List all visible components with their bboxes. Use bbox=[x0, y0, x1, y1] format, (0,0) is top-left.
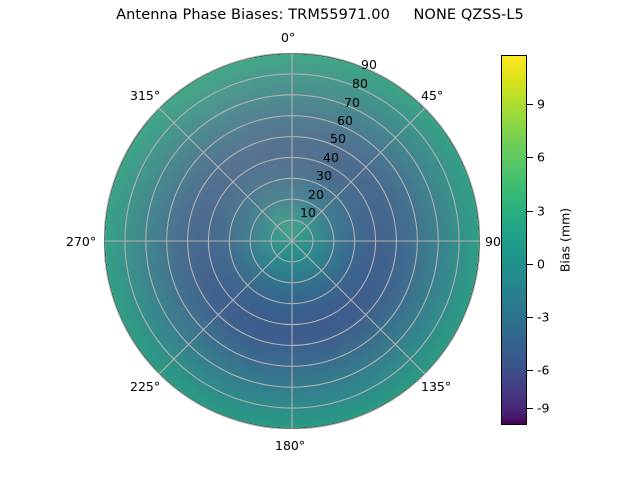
colorbar bbox=[501, 55, 527, 425]
page-title: Antenna Phase Biases: TRM55971.00 NONE Q… bbox=[0, 7, 640, 23]
colorbar-tick-0 bbox=[527, 264, 533, 265]
polar-radial-label-40: 40 bbox=[323, 150, 339, 165]
polar-angular-label-225: 225° bbox=[130, 379, 160, 394]
colorbar-label-m3: -3 bbox=[537, 310, 549, 325]
colorbar-tick-m9 bbox=[527, 408, 533, 409]
colorbar-title: Bias (mm) bbox=[558, 208, 573, 272]
colorbar-label-0: 0 bbox=[537, 257, 545, 272]
colorbar-tick-3 bbox=[527, 211, 533, 212]
bias-azimuthal-modulation bbox=[104, 53, 480, 429]
polar-radial-label-10: 10 bbox=[300, 205, 316, 220]
figure-canvas: Antenna Phase Biases: TRM55971.00 NONE Q… bbox=[0, 0, 640, 480]
colorbar-label-3: 3 bbox=[537, 204, 545, 219]
polar-angular-label-0: 0° bbox=[281, 30, 295, 45]
polar-angular-label-315: 315° bbox=[130, 88, 160, 103]
polar-data-disc bbox=[104, 53, 480, 429]
polar-radial-label-20: 20 bbox=[308, 187, 324, 202]
colorbar-tick-9 bbox=[527, 104, 533, 105]
polar-angular-label-45: 45° bbox=[421, 88, 443, 103]
polar-radial-label-90: 90 bbox=[361, 57, 377, 72]
polar-angular-label-90: 90 bbox=[485, 234, 501, 249]
bias-field bbox=[104, 53, 480, 429]
colorbar-gradient bbox=[502, 56, 526, 424]
polar-radial-label-30: 30 bbox=[316, 168, 332, 183]
colorbar-label-m6: -6 bbox=[537, 363, 549, 378]
polar-radial-label-80: 80 bbox=[352, 76, 368, 91]
polar-angular-label-270: 270° bbox=[66, 234, 96, 249]
colorbar-tick-6 bbox=[527, 157, 533, 158]
polar-angular-label-135: 135° bbox=[421, 379, 451, 394]
colorbar-label-m9: -9 bbox=[537, 401, 549, 416]
colorbar-label-6: 6 bbox=[537, 150, 545, 165]
polar-radial-label-60: 60 bbox=[337, 113, 353, 128]
polar-radial-label-50: 50 bbox=[330, 131, 346, 146]
colorbar-label-9: 9 bbox=[537, 97, 545, 112]
polar-angular-label-180: 180° bbox=[275, 438, 305, 453]
polar-axes bbox=[104, 53, 480, 429]
colorbar-tick-m6 bbox=[527, 370, 533, 371]
polar-radial-label-70: 70 bbox=[344, 95, 360, 110]
colorbar-tick-m3 bbox=[527, 317, 533, 318]
